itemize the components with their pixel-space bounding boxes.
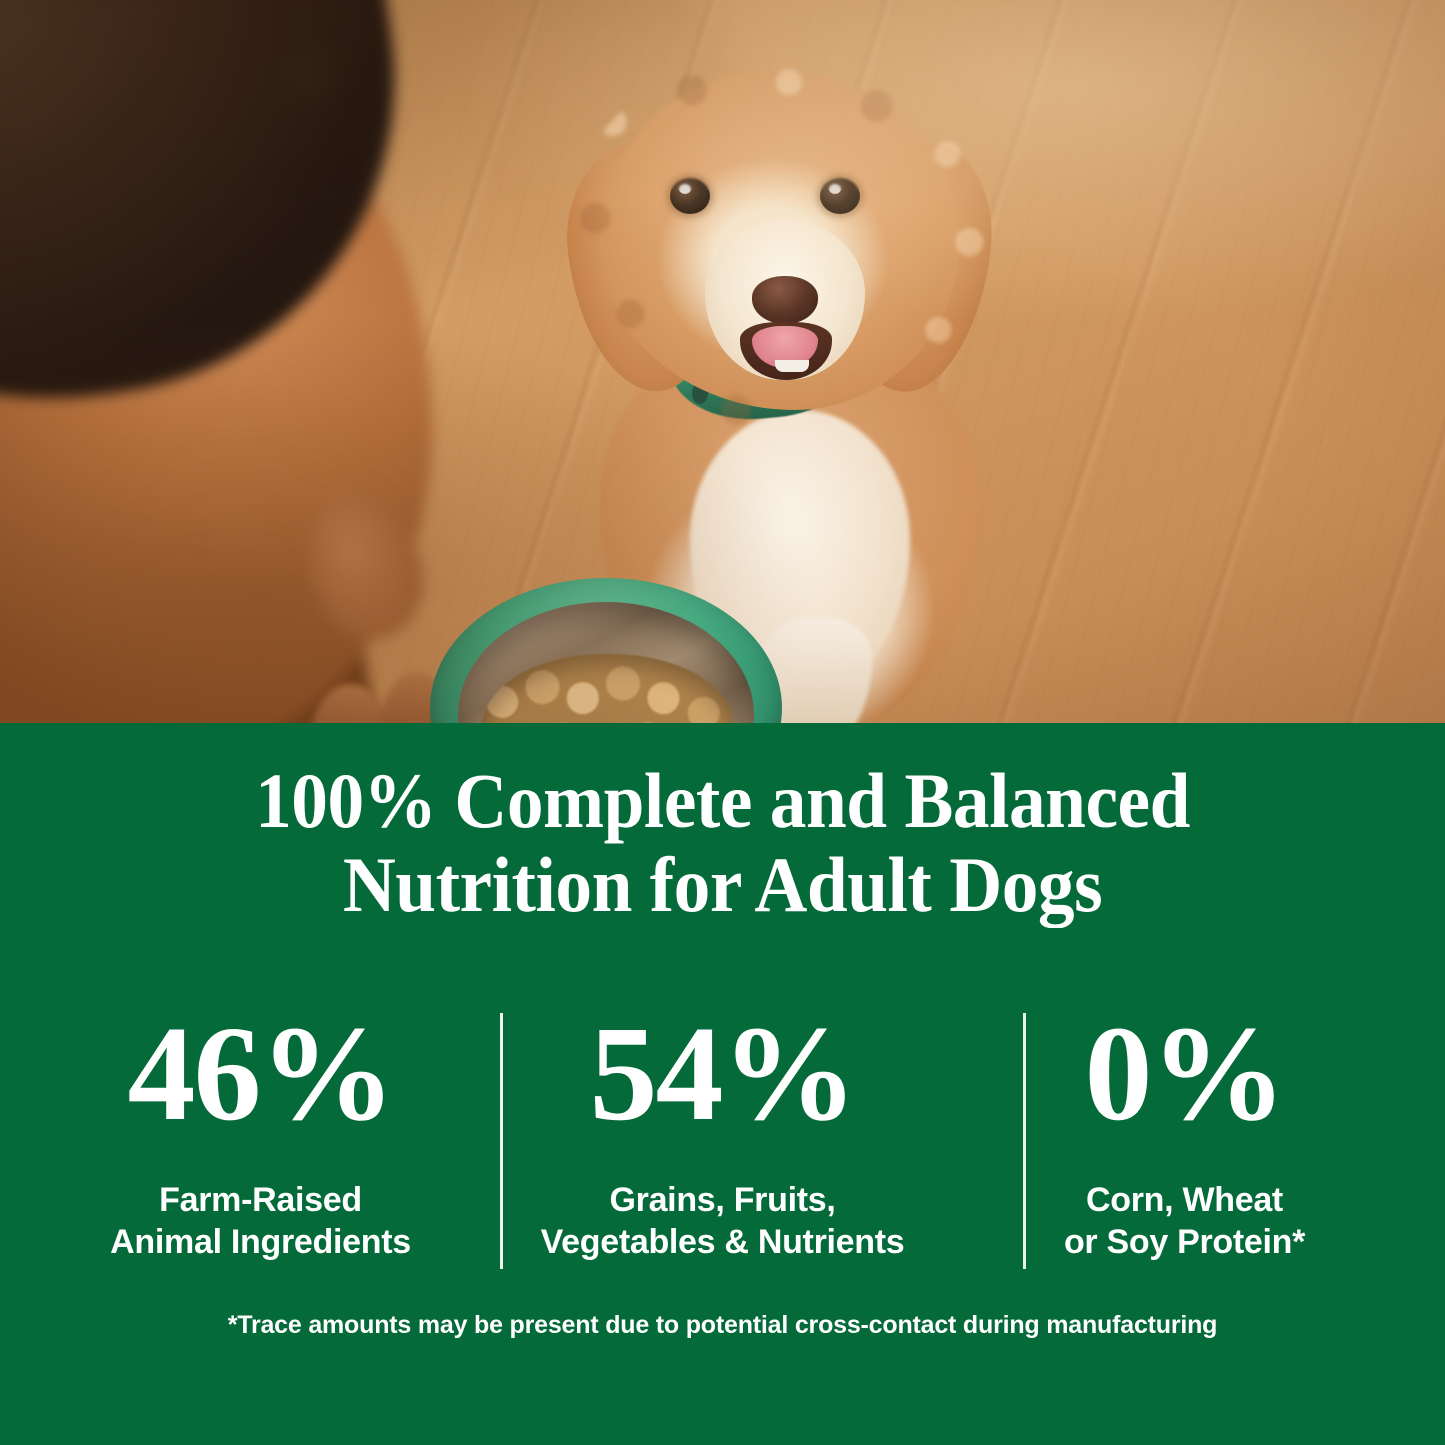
stat-divider-1	[500, 1013, 503, 1269]
stat-block-corn-wheat-soy: 0% Corn, Wheat or Soy Protein*	[965, 1001, 1405, 1263]
stat-label: Grains, Fruits, Vegetables & Nutrients	[481, 1179, 965, 1263]
stat-block-grains-fruits: 54% Grains, Fruits, Vegetables & Nutrien…	[481, 1001, 965, 1263]
stat-divider-2	[1023, 1013, 1026, 1269]
footnote-disclaimer: *Trace amounts may be present due to pot…	[0, 1309, 1445, 1341]
infographic-canvas: 100% Complete and Balanced Nutrition for…	[0, 0, 1445, 1445]
stats-row: 46% Farm-Raised Animal Ingredients 54% G…	[0, 1001, 1445, 1263]
stat-value: 46%	[41, 1001, 481, 1147]
stat-label: Corn, Wheat or Soy Protein*	[965, 1179, 1405, 1263]
photo-lighting-overlay	[0, 0, 1445, 723]
page-title: 100% Complete and Balanced Nutrition for…	[43, 759, 1401, 927]
stat-block-farm-raised: 46% Farm-Raised Animal Ingredients	[41, 1001, 481, 1263]
stat-value: 54%	[481, 1001, 965, 1147]
nutrition-panel: 100% Complete and Balanced Nutrition for…	[0, 723, 1445, 1445]
stat-value: 0%	[965, 1001, 1405, 1147]
stat-label: Farm-Raised Animal Ingredients	[41, 1179, 481, 1263]
hero-photo	[0, 0, 1445, 723]
